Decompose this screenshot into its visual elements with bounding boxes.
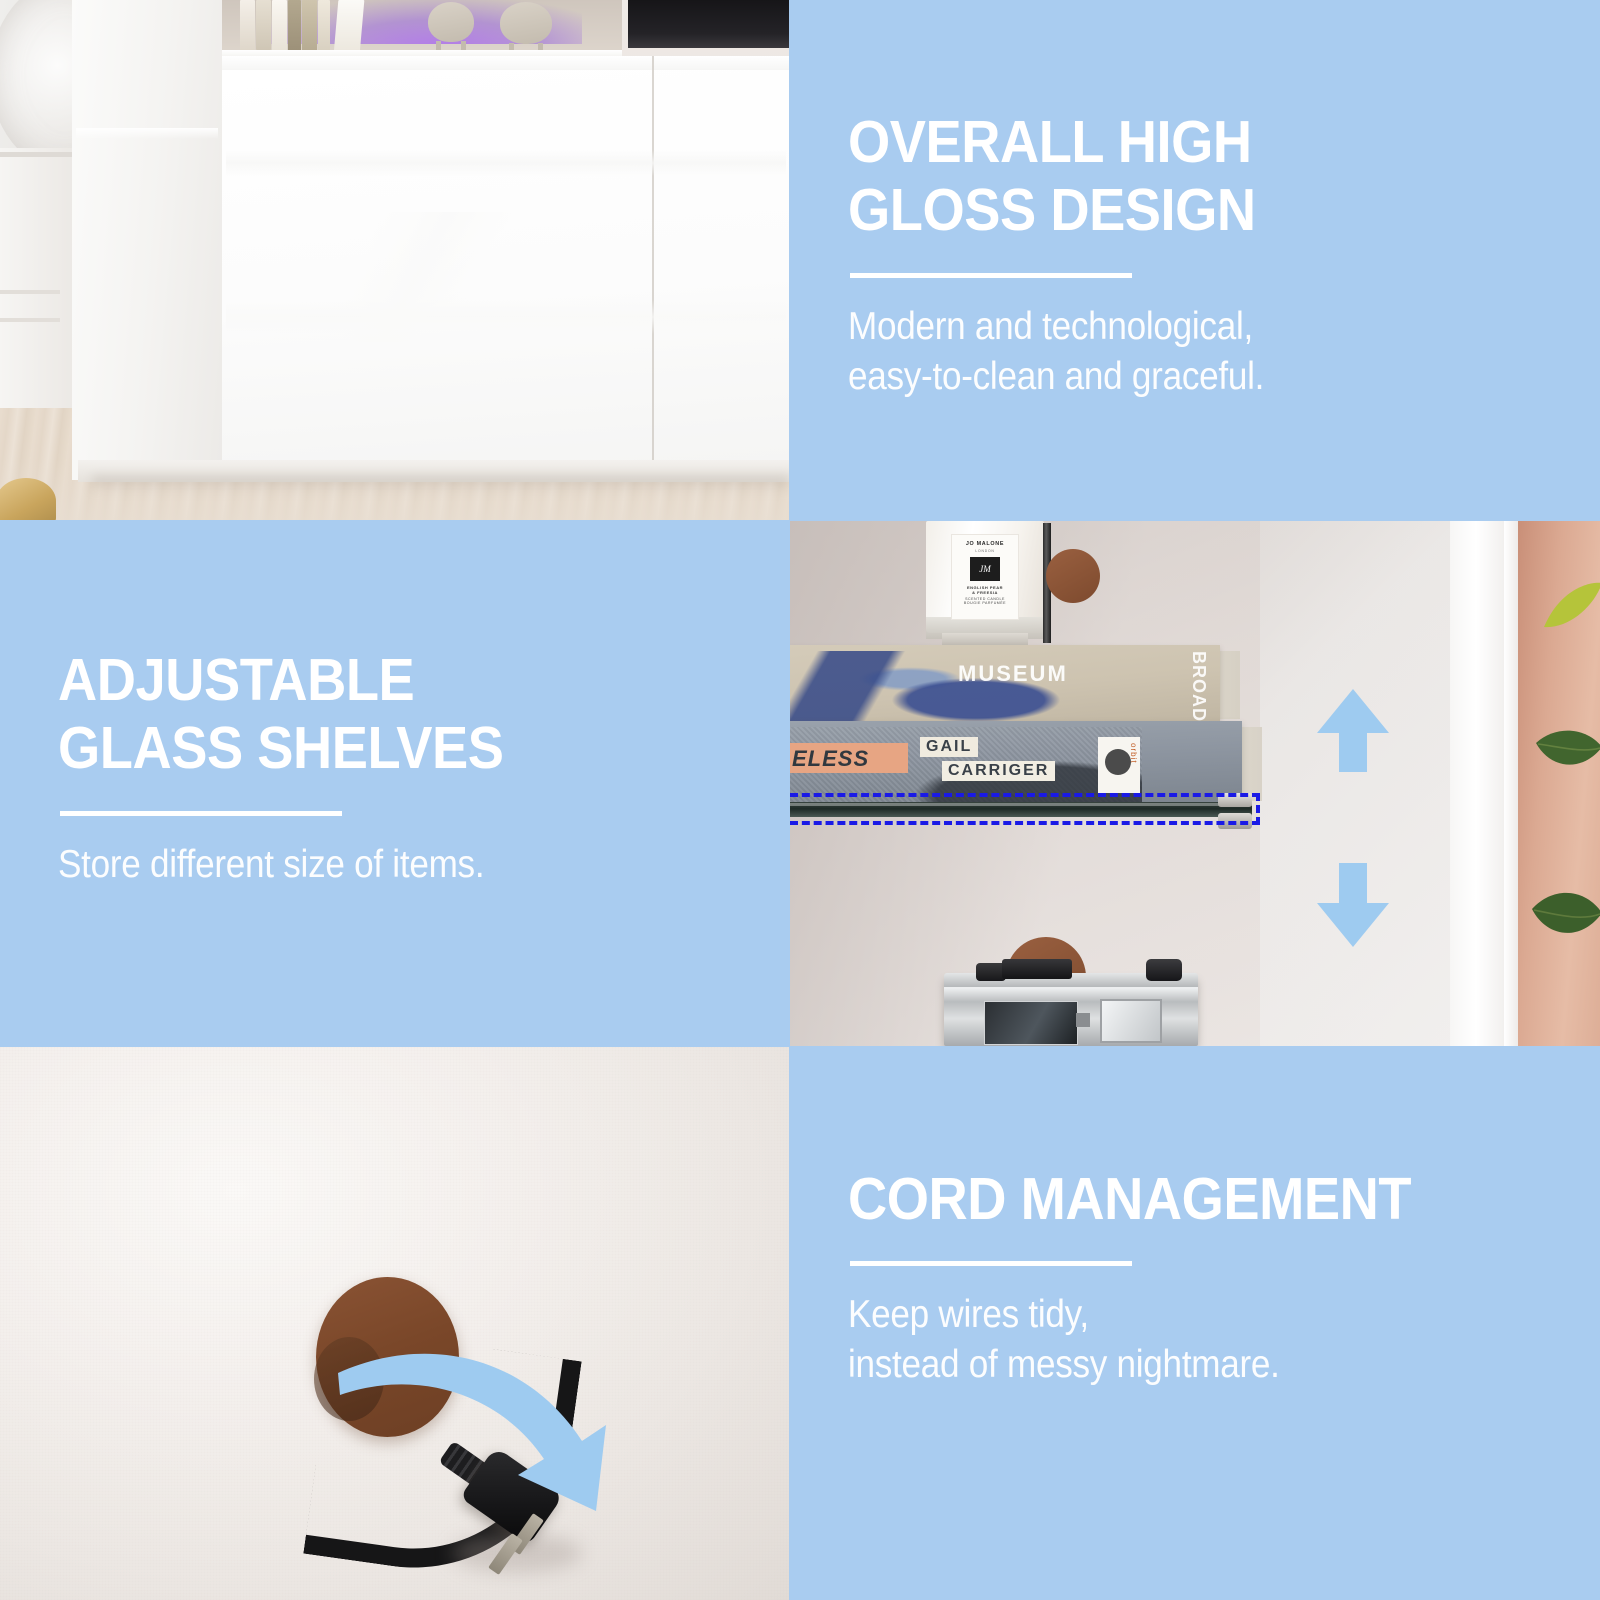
camera-lens-window (984, 1001, 1078, 1045)
book-series-text: ELESS (792, 746, 869, 772)
gloss-highlight (76, 128, 218, 139)
book-author-last: CARRIGER (942, 761, 1055, 781)
panel-subtitle: Keep wires tidy, instead of messy nightm… (848, 1290, 1514, 1390)
candle-brand: JO MALONE (952, 541, 1018, 547)
book (318, 0, 330, 52)
book-publisher-mark: orbit (1098, 737, 1140, 793)
title-rule (60, 811, 342, 816)
ceramic-vase (500, 2, 552, 44)
book (272, 0, 287, 52)
moulding-line (0, 152, 72, 157)
ceramic-vase (428, 2, 474, 42)
book (240, 0, 255, 52)
panel-cord-text: CORD MANAGEMENT Keep wires tidy, instead… (790, 1047, 1600, 1600)
panel-title: OVERALL HIGH GLOSS DESIGN (848, 108, 1510, 245)
panel-gloss-text: OVERALL HIGH GLOSS DESIGN Modern and tec… (790, 0, 1600, 520)
panel-shelves-photo: JO MALONE LONDON ENGLISH PEAR & FREESIA … (790, 521, 1600, 1046)
book (256, 0, 271, 50)
camera-knob (1146, 959, 1182, 981)
camera-detail (1076, 1013, 1090, 1027)
gloss-reflection (226, 212, 606, 342)
infographic-page: OVERALL HIGH GLOSS DESIGN Modern and tec… (0, 0, 1600, 1600)
book-series-band: ELESS (790, 743, 908, 773)
book-title-museum: MUSEUM (958, 661, 1068, 687)
cabinet-shadow (92, 476, 789, 492)
plant-leaf-icon (1530, 881, 1600, 961)
camera-rangefinder-window (1100, 999, 1162, 1043)
gold-side-table (0, 478, 56, 520)
camera-viewfinder-housing (1002, 959, 1072, 979)
television (628, 0, 789, 48)
plant-leaf-icon (1542, 581, 1600, 671)
arrow-down-icon (1317, 859, 1389, 947)
book (334, 0, 365, 54)
candle-type: SCENTED CANDLE BOUGIE PARFUMÉE (952, 597, 1018, 605)
publisher-dot (1105, 749, 1131, 775)
panel-cord-photo (0, 1047, 789, 1600)
moulding-line (0, 318, 60, 322)
cabinet-top-band (222, 56, 789, 70)
candle-label: JO MALONE LONDON ENGLISH PEAR & FREESIA … (951, 534, 1019, 620)
plant-leaf-icon (1534, 721, 1600, 795)
cabinet-side-panel (72, 0, 222, 480)
moulding-line (0, 290, 60, 294)
cabinet-right-panel (1450, 521, 1508, 1046)
panel-gloss-photo (0, 0, 789, 520)
title-rule (850, 1261, 1132, 1266)
arrow-up-icon (1317, 689, 1389, 773)
brown-disc-decor (1046, 549, 1100, 603)
cabinet-front-edge (1504, 521, 1518, 1046)
candle-scent: ENGLISH PEAR & FREESIA (952, 585, 1018, 595)
publisher-name: orbit (1129, 743, 1138, 764)
panel-subtitle: Modern and technological, easy-to-clean … (848, 302, 1496, 402)
glass-highlight (790, 803, 1252, 806)
candle-monogram (970, 557, 1000, 581)
book-author-first: GAIL (920, 737, 978, 757)
gloss-reflection (226, 150, 786, 176)
shelf-outline-highlight (790, 821, 1260, 825)
panel-subtitle: Store different size of items. (58, 840, 688, 890)
book (288, 0, 301, 52)
panel-shelves-text: ADJUSTABLE GLASS SHELVES Store different… (0, 521, 789, 1046)
shelf-outline-highlight (790, 793, 1260, 797)
arrow-curve-icon (330, 1295, 660, 1545)
title-rule (850, 273, 1132, 278)
candle-city: LONDON (952, 549, 1018, 553)
book (302, 0, 317, 52)
panel-title: CORD MANAGEMENT (848, 1165, 1529, 1233)
door-seam (652, 56, 654, 480)
panel-title: ADJUSTABLE GLASS SHELVES (58, 646, 702, 783)
shelf-outline-highlight (1256, 793, 1260, 825)
